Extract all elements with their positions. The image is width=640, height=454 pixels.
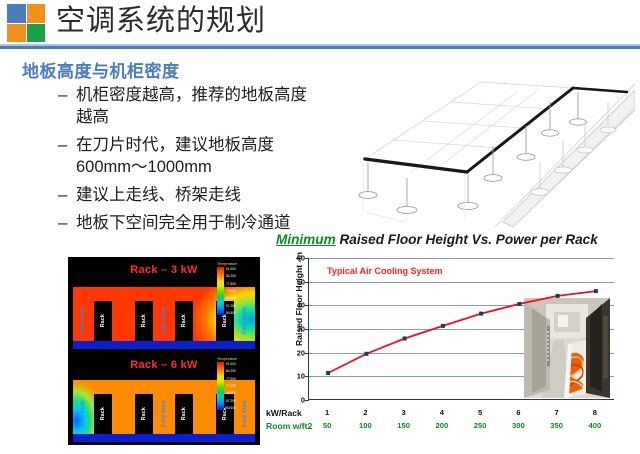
rack-column: Rack <box>94 301 112 341</box>
rack-column: Rack <box>135 301 153 341</box>
legend-tick: 70.750 <box>226 384 255 388</box>
slide-title-bar: 空调系统的规划 <box>0 0 640 49</box>
title-rule <box>0 46 640 49</box>
list-item: – 地板下空间完全用于制冷通道 <box>58 212 323 234</box>
x-axis-cells: 1 2 3 4 5 6 7 8 <box>308 408 614 421</box>
cold-aisle-column: Cold Aisle <box>155 301 173 341</box>
x-axis-row-label: Room w/ft2 <box>266 421 312 431</box>
list-item: – 建议上走线、桥架走线 <box>58 184 323 206</box>
legend-tick: 77.500 <box>226 377 255 381</box>
cfd-panel-3kw: Rack – 3 kW Cold Aisle Rack Rack Cold Ai… <box>69 258 259 351</box>
bullet-list: – 机柜密度越高，推荐的地板高度越高 – 在刀片时代，建议地板高度600mm～1… <box>58 84 323 240</box>
cfd-legend-body: 91.000 84.250 77.500 70.750 64.000 57.25… <box>217 362 255 410</box>
x-tick-label: 100 <box>359 421 372 430</box>
x-tick-label: 5 <box>478 408 482 417</box>
y-tick-label: 60 <box>297 254 305 263</box>
data-point <box>556 294 560 298</box>
cfd-panel-6kw: Rack – 6 kW Cold Aisle Rack Rack Cold Ai… <box>69 351 259 444</box>
list-item-label: 在刀片时代，建议地板高度600mm～1000mm <box>76 134 323 178</box>
list-item: – 机柜密度越高，推荐的地板高度越高 <box>58 84 323 128</box>
x-tick-label: 2 <box>363 408 367 417</box>
logo-quadrant-top-left <box>7 4 26 23</box>
legend-tick: 77.500 <box>226 282 255 286</box>
chart-series-svg <box>309 258 615 400</box>
list-item-label: 建议上走线、桥架走线 <box>76 184 323 206</box>
cfd-temperature-legend: Temperature 91.000 84.250 77.500 70.750 … <box>217 262 255 318</box>
x-axis-cells: 50 100 150 200 250 300 350 400 <box>308 421 614 434</box>
cfd-thermal-images: Rack – 3 kW Cold Aisle Rack Rack Cold Ai… <box>68 257 260 445</box>
color-ramp-icon <box>217 267 224 315</box>
legend-tick: 70.750 <box>226 289 255 293</box>
x-tick-label: 4 <box>440 408 444 417</box>
x-axis-row-label: kW/Rack <box>266 408 302 418</box>
legend-tick: 64.000 <box>226 296 255 300</box>
bullet-marker: – <box>58 184 76 206</box>
y-tick-label: 10 <box>297 372 305 381</box>
cfd-column-label: Cold Aisle <box>80 307 86 334</box>
series-line <box>328 291 596 373</box>
cfd-temperature-legend: Temperature 91.000 84.250 77.500 70.750 … <box>217 357 255 413</box>
list-item-label: 地板下空间完全用于制冷通道 <box>76 212 323 234</box>
chart-title-emphasis: Minimum <box>276 232 336 247</box>
y-tick-mark <box>305 400 309 401</box>
cfd-plenum-band <box>73 341 255 349</box>
data-point <box>364 352 368 356</box>
legend-tick: 84.250 <box>226 274 255 278</box>
x-tick-label: 1 <box>325 408 329 417</box>
data-point <box>326 371 330 375</box>
x-tick-label: 400 <box>589 421 602 430</box>
bullet-marker: – <box>58 134 76 156</box>
legend-tick: 91.000 <box>226 362 255 366</box>
gap-column <box>195 394 213 434</box>
cfd-column-label: Cold Aisle <box>161 307 167 334</box>
chart-title-rest: Raised Floor Height Vs. Power per Rack <box>336 232 598 247</box>
x-tick-label: 3 <box>402 408 406 417</box>
cfd-legend-ticks: 91.000 84.250 77.500 70.750 64.000 57.25… <box>224 362 255 410</box>
gap-column <box>114 301 132 341</box>
cold-aisle-column: Cold Aisle <box>74 301 92 341</box>
chart-title: Minimum Raised Floor Height Vs. Power pe… <box>276 232 636 247</box>
section-heading: 地板高度与机柜密度 <box>22 57 180 82</box>
cfd-column-label: Rack <box>100 314 106 327</box>
bullet-marker: – <box>58 212 76 234</box>
data-point <box>594 289 598 293</box>
x-tick-label: 200 <box>436 421 449 430</box>
data-point <box>479 312 483 316</box>
logo-quadrant-bottom-right <box>27 24 46 43</box>
bullet-marker: – <box>58 84 76 106</box>
legend-tick: 57.250 <box>226 304 255 308</box>
gap-column <box>114 394 132 434</box>
raised-floor-illustration <box>335 62 635 227</box>
slide-root: 空调系统的规划 地板高度与机柜密度 – 机柜密度越高，推荐的地板高度越高 – 在… <box>0 0 640 454</box>
rack-column: Rack <box>175 394 193 434</box>
raised-floor-svg <box>335 62 635 227</box>
legend-tick: 84.250 <box>226 369 255 373</box>
cfd-column-label: Rack <box>141 314 147 327</box>
cfd-column-label: Rack <box>181 314 187 327</box>
x-tick-label: 7 <box>555 408 559 417</box>
cfd-column-label: Rack <box>181 407 187 420</box>
chart-plot-wrapper: Raised Floor Height -in Typical Air Cool… <box>266 254 638 404</box>
x-tick-label: 350 <box>550 421 563 430</box>
x-tick-label: 300 <box>512 421 525 430</box>
x-tick-label: 150 <box>397 421 410 430</box>
list-item: – 在刀片时代，建议地板高度600mm～1000mm <box>58 134 323 178</box>
data-point <box>441 324 445 328</box>
legend-tick: 50.500 <box>226 406 255 410</box>
cold-aisle-column: Cold Aisle <box>155 394 173 434</box>
cfd-column-label: Cold Aisle <box>80 400 86 427</box>
chart-x-axis: kW/Rack 1 2 3 4 5 6 7 8 Room w/ft2 50 10… <box>266 408 638 434</box>
cfd-legend-ticks: 91.000 84.250 77.500 70.750 64.000 57.25… <box>224 267 255 315</box>
cfd-plenum-band <box>73 434 255 442</box>
y-tick-label: 50 <box>297 277 305 286</box>
cfd-column-label: Cold Aisle <box>161 400 167 427</box>
logo-icon <box>7 4 45 42</box>
legend-tick: 91.000 <box>226 267 255 271</box>
data-point <box>403 337 407 341</box>
gap-column <box>195 301 213 341</box>
legend-tick: 57.250 <box>226 399 255 403</box>
rack-column: Rack <box>94 394 112 434</box>
x-axis-row-kw: kW/Rack 1 2 3 4 5 6 7 8 <box>266 408 638 421</box>
data-point <box>517 302 521 306</box>
page-title: 空调系统的规划 <box>56 1 266 41</box>
logo-quadrant-top-right <box>27 4 46 23</box>
rack-column: Rack <box>135 394 153 434</box>
raised-floor-chart: Minimum Raised Floor Height Vs. Power pe… <box>266 232 638 444</box>
x-axis-row-room: Room w/ft2 50 100 150 200 250 300 350 40… <box>266 421 638 434</box>
y-tick-label: 40 <box>297 301 305 310</box>
logo-quadrant-bottom-left <box>7 24 26 43</box>
x-tick-label: 250 <box>474 421 487 430</box>
cfd-column-label: Rack <box>141 407 147 420</box>
cfd-column-label: Rack <box>100 407 106 420</box>
rack-column: Rack <box>175 301 193 341</box>
x-tick-label: 6 <box>516 408 520 417</box>
y-tick-label: 30 <box>297 325 305 334</box>
list-item-label: 机柜密度越高，推荐的地板高度越高 <box>76 84 323 128</box>
legend-tick: 50.500 <box>226 311 255 315</box>
x-tick-label: 8 <box>593 408 597 417</box>
y-tick-label: 20 <box>297 348 305 357</box>
chart-plot-area: Typical Air Cooling System 60 50 40 30 <box>308 258 614 400</box>
color-ramp-icon <box>217 362 224 410</box>
cold-aisle-column: Cold Aisle <box>74 394 92 434</box>
cfd-legend-body: 91.000 84.250 77.500 70.750 64.000 57.25… <box>217 267 255 315</box>
series-markers <box>326 289 598 375</box>
x-tick-label: 50 <box>323 421 331 430</box>
y-tick-label: 0 <box>301 396 305 405</box>
legend-tick: 64.000 <box>226 391 255 395</box>
